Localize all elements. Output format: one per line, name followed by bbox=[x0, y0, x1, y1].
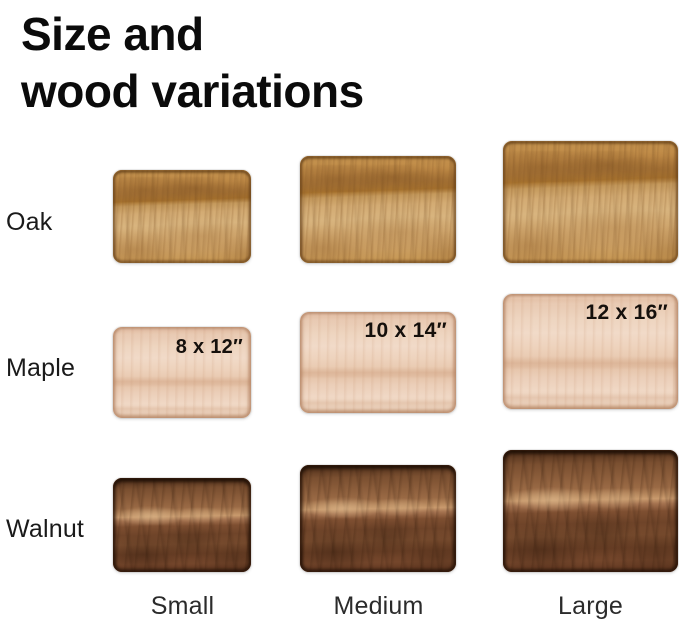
col-label-medium: Medium bbox=[300, 592, 457, 621]
col-label-small: Small bbox=[113, 592, 252, 621]
oak-grain-texture bbox=[503, 141, 678, 263]
board-walnut-small[interactable] bbox=[113, 478, 251, 572]
col-label-large: Large bbox=[503, 592, 678, 621]
dimension-label-large: 12 x 16″ bbox=[585, 301, 668, 325]
dimension-label-medium: 10 x 14″ bbox=[364, 319, 447, 343]
row-label-oak: Oak bbox=[6, 208, 52, 237]
board-oak-large[interactable] bbox=[503, 141, 678, 263]
dimension-label-small: 8 x 12″ bbox=[176, 336, 243, 359]
board-walnut-large[interactable] bbox=[503, 450, 678, 572]
walnut-grain-texture bbox=[300, 465, 456, 572]
board-oak-medium[interactable] bbox=[300, 156, 456, 263]
board-maple-medium[interactable]: 10 x 14″ bbox=[300, 312, 456, 413]
board-walnut-medium[interactable] bbox=[300, 465, 456, 572]
row-label-maple: Maple bbox=[6, 354, 75, 383]
oak-grain-texture bbox=[300, 156, 456, 263]
row-label-walnut: Walnut bbox=[6, 515, 84, 544]
board-grid: Oak Maple Walnut 8 x 12″ 10 x 14″ 12 x 1… bbox=[0, 0, 679, 628]
board-oak-small[interactable] bbox=[113, 170, 251, 263]
oak-grain-texture bbox=[113, 170, 251, 263]
walnut-grain-texture bbox=[113, 478, 251, 572]
board-maple-small[interactable]: 8 x 12″ bbox=[113, 327, 251, 418]
walnut-grain-texture bbox=[503, 450, 678, 572]
board-maple-large[interactable]: 12 x 16″ bbox=[503, 294, 678, 409]
